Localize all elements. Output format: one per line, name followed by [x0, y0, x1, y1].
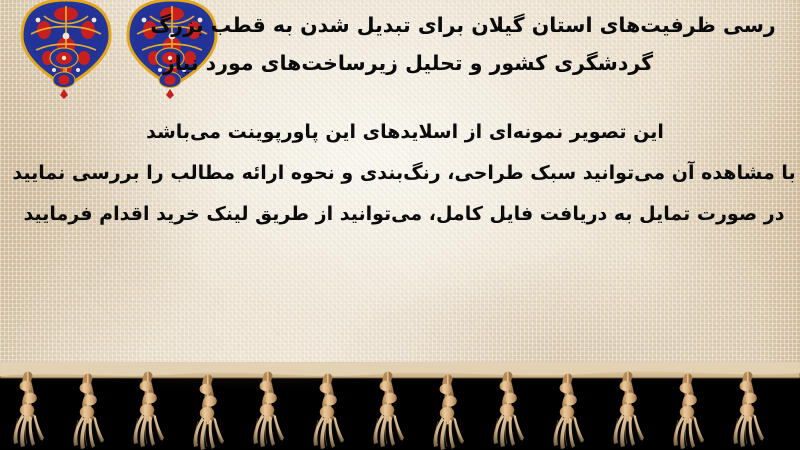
- body-line-3: در صورت تمایل به دریافت فایل کامل، می‌تو…: [0, 194, 800, 235]
- body-line-1: این تصویر نمونه‌ای از اسلایدهای این پاور…: [0, 112, 800, 153]
- slide-body-text: این تصویر نمونه‌ای از اسلایدهای این پاور…: [0, 112, 800, 235]
- slide-canvas: رسی ظرفیت‌های استان گیلان برای تبدیل شدن…: [0, 0, 800, 450]
- body-line-2: با مشاهده آن می‌توانید سبک طراحی، رنگ‌بن…: [0, 153, 800, 194]
- headline-line-2: گردشگری کشور و تحلیل زیرساخت‌های مورد نی…: [0, 44, 800, 82]
- fringe-tassels: [0, 362, 800, 450]
- slide-headline: رسی ظرفیت‌های استان گیلان برای تبدیل شدن…: [0, 6, 800, 82]
- carpet-fringe-band: [0, 362, 800, 450]
- headline-line-1: رسی ظرفیت‌های استان گیلان برای تبدیل شدن…: [0, 6, 800, 44]
